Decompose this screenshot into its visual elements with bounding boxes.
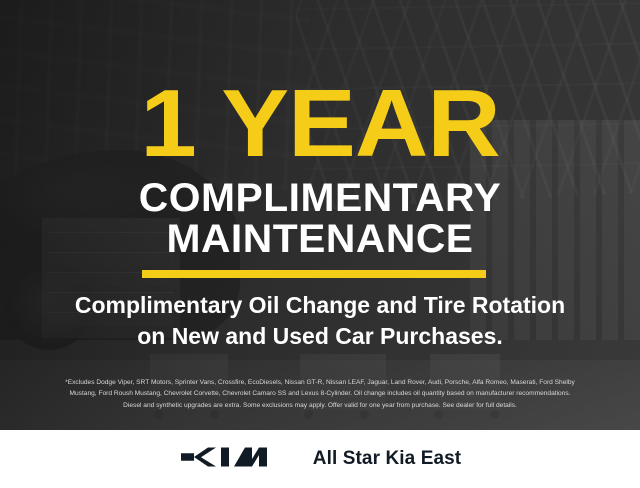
yellow-divider-bar bbox=[142, 270, 486, 278]
headline-secondary-line2: MAINTENANCE bbox=[0, 219, 640, 260]
disclaimer-line-2: Mustang, Ford Roush Mustang, Chevrolet C… bbox=[14, 388, 626, 399]
dealer-name: All Star Kia East bbox=[313, 448, 461, 470]
disclaimer-line-3: Diesel and synthetic upgrades are extra.… bbox=[14, 400, 626, 411]
promotional-banner: 1 YEAR COMPLIMENTARY MAINTENANCE Complim… bbox=[0, 0, 640, 488]
banner-content: 1 YEAR COMPLIMENTARY MAINTENANCE Complim… bbox=[0, 0, 640, 488]
footer-bar: All Star Kia East bbox=[0, 430, 640, 488]
disclaimer-line-1: *Excludes Dodge Viper, SRT Motors, Sprin… bbox=[14, 377, 626, 388]
kia-logo-icon bbox=[179, 444, 287, 475]
headline-secondary: COMPLIMENTARY MAINTENANCE bbox=[0, 178, 640, 260]
subheadline-line2: on New and Used Car Purchases. bbox=[0, 321, 640, 352]
headline-secondary-line1: COMPLIMENTARY bbox=[139, 176, 501, 220]
disclaimer-text: *Excludes Dodge Viper, SRT Motors, Sprin… bbox=[14, 377, 626, 411]
subheadline: Complimentary Oil Change and Tire Rotati… bbox=[0, 290, 640, 352]
headline-primary: 1 YEAR bbox=[0, 76, 640, 172]
subheadline-line1: Complimentary Oil Change and Tire Rotati… bbox=[75, 292, 565, 318]
